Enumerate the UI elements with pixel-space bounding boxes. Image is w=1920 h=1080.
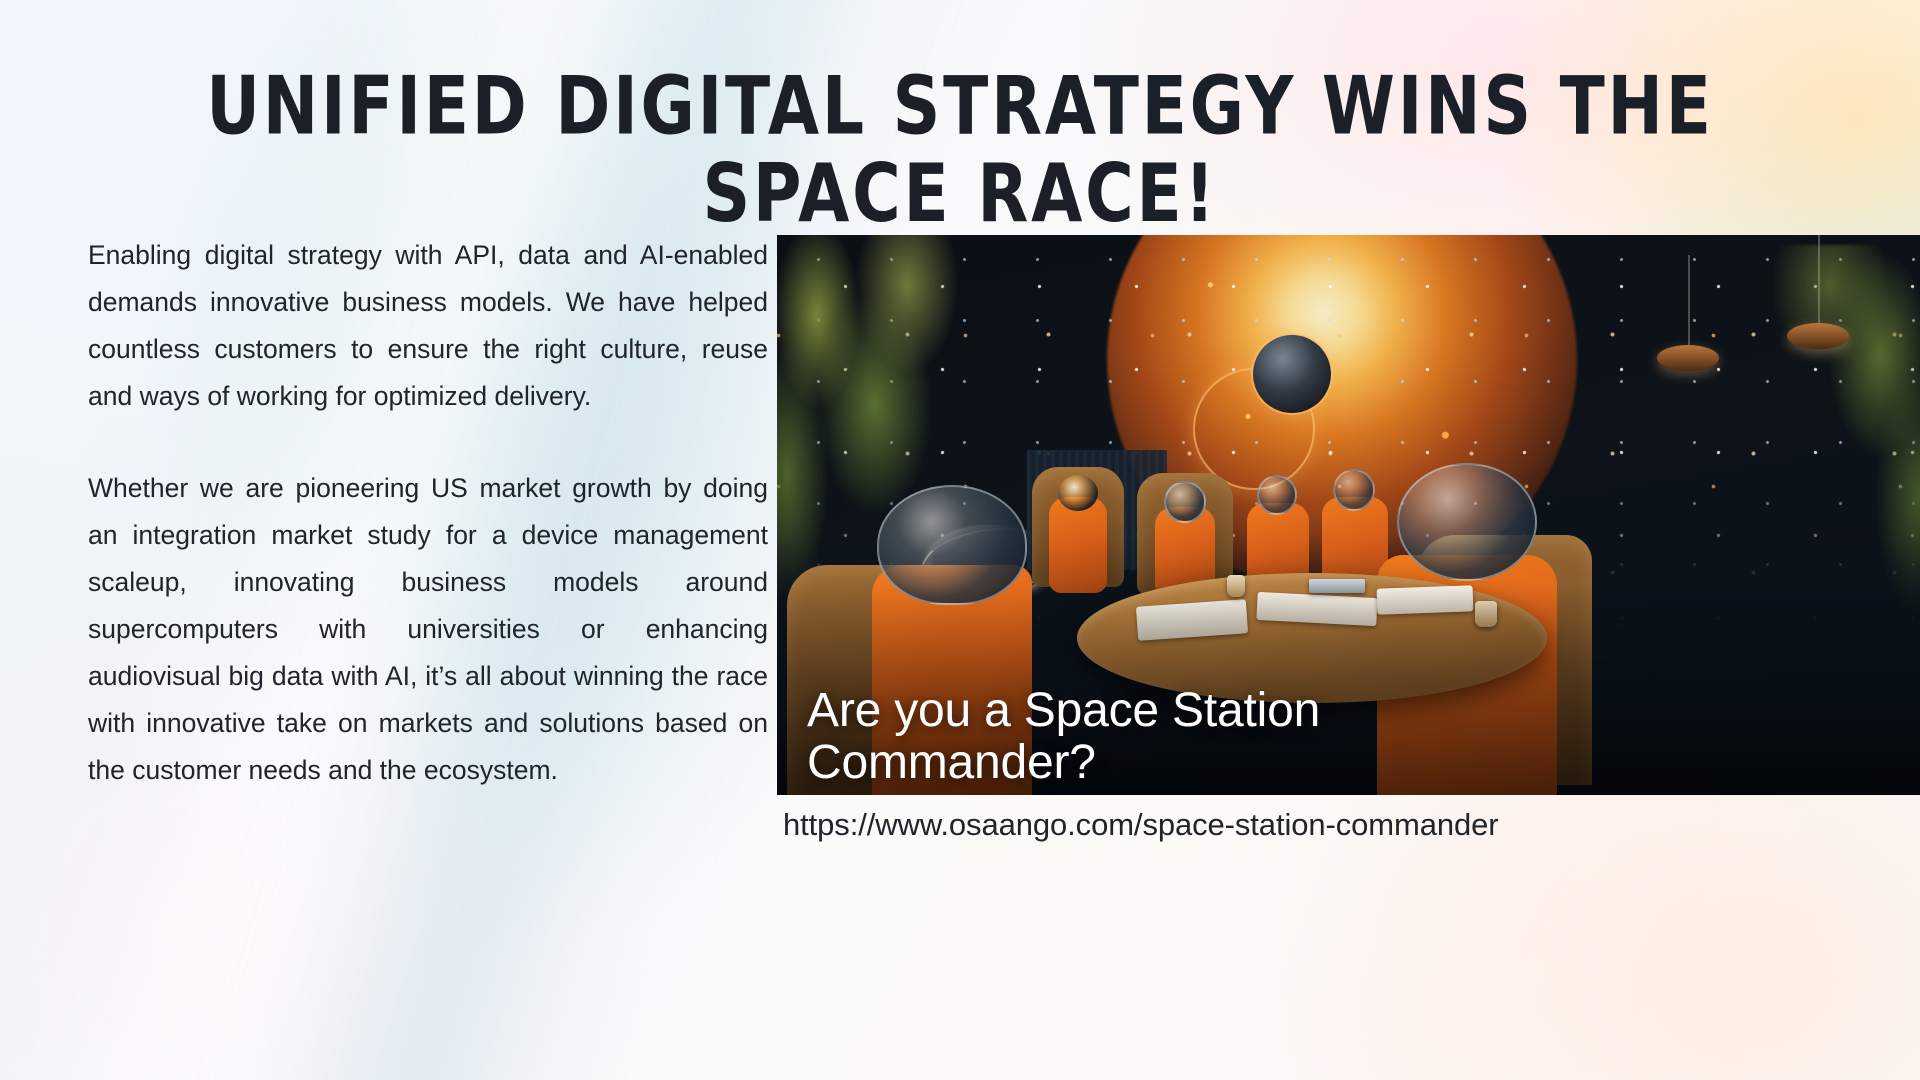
astronaut-visor [1058, 475, 1098, 511]
page-title: Unified digital strategy wins the space … [160, 62, 1761, 237]
hanging-lamp-icon [1787, 323, 1849, 349]
lamp-shade [1787, 323, 1849, 349]
lamp-cord [1818, 235, 1820, 323]
astronaut-helmet [1333, 469, 1375, 511]
astronaut-helmet-foreground [877, 485, 1027, 605]
astronaut-helmet [1257, 475, 1297, 515]
lamp-cord [1688, 255, 1690, 345]
astronaut-helmet [1164, 481, 1206, 523]
paper-document [1256, 592, 1377, 626]
photo-panel[interactable]: Are you a Space Station Commander? [777, 235, 1920, 795]
photo-caption: Are you a Space Station Commander? [807, 685, 1547, 789]
table-items [1077, 565, 1547, 675]
lamp-shade [1657, 345, 1719, 371]
paper-document [1136, 599, 1248, 641]
astronaut-helmet-foreground [1397, 463, 1537, 581]
coffee-cup-icon [1227, 575, 1245, 597]
laptop-icon [1309, 579, 1365, 593]
orb-small-icon [1253, 335, 1331, 413]
paper-document [1377, 585, 1474, 614]
body-copy: Enabling digital strategy with API, data… [88, 232, 768, 794]
coffee-cup-icon [1475, 601, 1497, 627]
body-paragraph-1: Enabling digital strategy with API, data… [88, 232, 768, 420]
photo-url-link[interactable]: https://www.osaango.com/space-station-co… [783, 805, 1913, 845]
hanging-lamp-icon [1657, 345, 1719, 371]
slide-canvas: Unified digital strategy wins the space … [0, 0, 1920, 1080]
body-paragraph-2: Whether we are pioneering US market grow… [88, 465, 768, 794]
